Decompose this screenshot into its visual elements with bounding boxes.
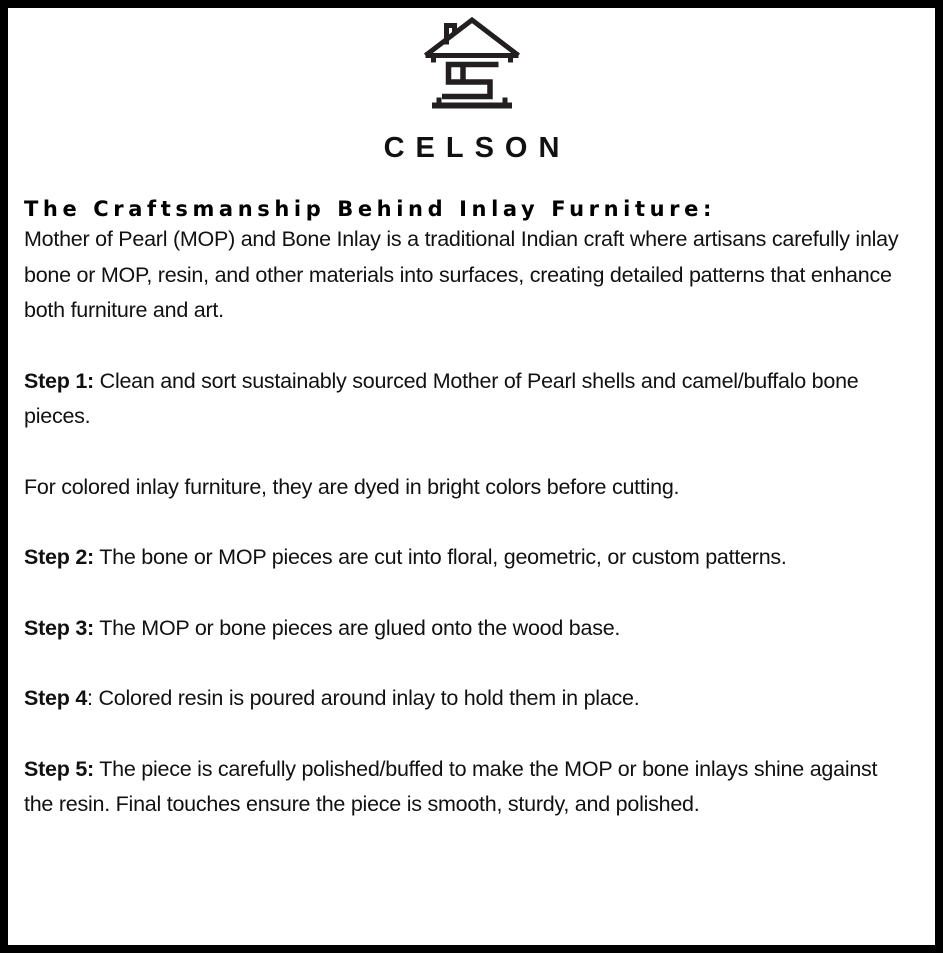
step-5-text: The piece is carefully polished/buffed t…: [24, 757, 877, 817]
intro-paragraph: Mother of Pearl (MOP) and Bone Inlay is …: [24, 222, 908, 329]
body-content: Mother of Pearl (MOP) and Bone Inlay is …: [24, 222, 908, 823]
house-monogram-logo-icon: [420, 14, 524, 116]
page-title: The Craftsmanship Behind Inlay Furniture…: [24, 197, 927, 222]
step-4-text: : Colored resin is poured around inlay t…: [87, 686, 639, 710]
step-3-label: Step 3:: [24, 616, 94, 640]
brand-header: CELSON: [16, 12, 927, 163]
step-2-label: Step 2:: [24, 545, 94, 569]
step-2-text: The bone or MOP pieces are cut into flor…: [94, 545, 787, 569]
step-2: Step 2: The bone or MOP pieces are cut i…: [24, 540, 908, 576]
step-4: Step 4: Colored resin is poured around i…: [24, 681, 908, 717]
poster-inner: CELSON The Craftsmanship Behind Inlay Fu…: [8, 8, 935, 945]
step-4-label: Step 4: [24, 686, 87, 710]
step-1-text: Clean and sort sustainably sourced Mothe…: [24, 369, 859, 429]
step-5-label: Step 5:: [24, 757, 94, 781]
step-1-label: Step 1:: [24, 369, 94, 393]
note-paragraph: For colored inlay furniture, they are dy…: [24, 470, 908, 506]
poster-page: CELSON The Craftsmanship Behind Inlay Fu…: [0, 0, 943, 953]
step-3-text: The MOP or bone pieces are glued onto th…: [94, 616, 620, 640]
step-3: Step 3: The MOP or bone pieces are glued…: [24, 611, 908, 647]
step-5: Step 5: The piece is carefully polished/…: [24, 752, 908, 823]
brand-name: CELSON: [27, 134, 927, 163]
step-1: Step 1: Clean and sort sustainably sourc…: [24, 364, 908, 435]
